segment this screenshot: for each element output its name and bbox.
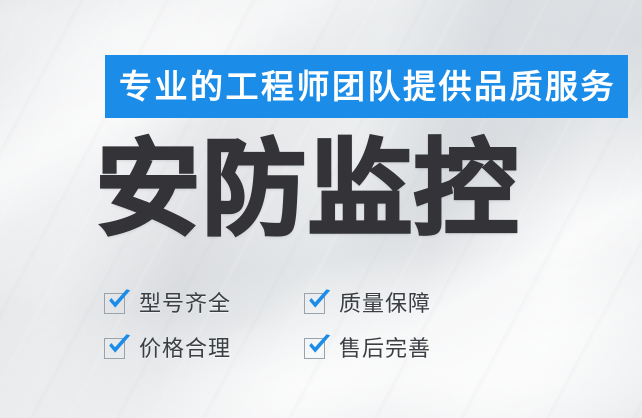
check-icon <box>106 288 132 314</box>
page-title: 安防监控 <box>96 138 520 242</box>
feature-item: 质量保障 <box>304 281 504 326</box>
tagline-text: 专业的工程师团队提供品质服务 <box>117 70 616 103</box>
feature-list: 型号齐全质量保障价格合理售后完善 <box>104 281 524 371</box>
tagline-banner: 专业的工程师团队提供品质服务 <box>105 55 628 118</box>
checkbox <box>104 293 125 314</box>
feature-item: 型号齐全 <box>104 281 304 326</box>
checkbox <box>304 293 325 314</box>
checkbox <box>104 338 125 359</box>
promo-poster: 专业的工程师团队提供品质服务 安防监控 型号齐全质量保障价格合理售后完善 <box>0 0 642 418</box>
feature-label: 价格合理 <box>139 338 231 360</box>
check-icon <box>306 288 332 314</box>
check-icon <box>306 333 332 359</box>
feature-item: 价格合理 <box>104 326 304 371</box>
feature-label: 型号齐全 <box>139 293 231 315</box>
feature-item: 售后完善 <box>304 326 504 371</box>
feature-label: 售后完善 <box>339 338 431 360</box>
headline-block: 安防监控 <box>96 134 548 246</box>
check-icon <box>106 333 132 359</box>
feature-label: 质量保障 <box>339 293 431 315</box>
checkbox <box>304 338 325 359</box>
